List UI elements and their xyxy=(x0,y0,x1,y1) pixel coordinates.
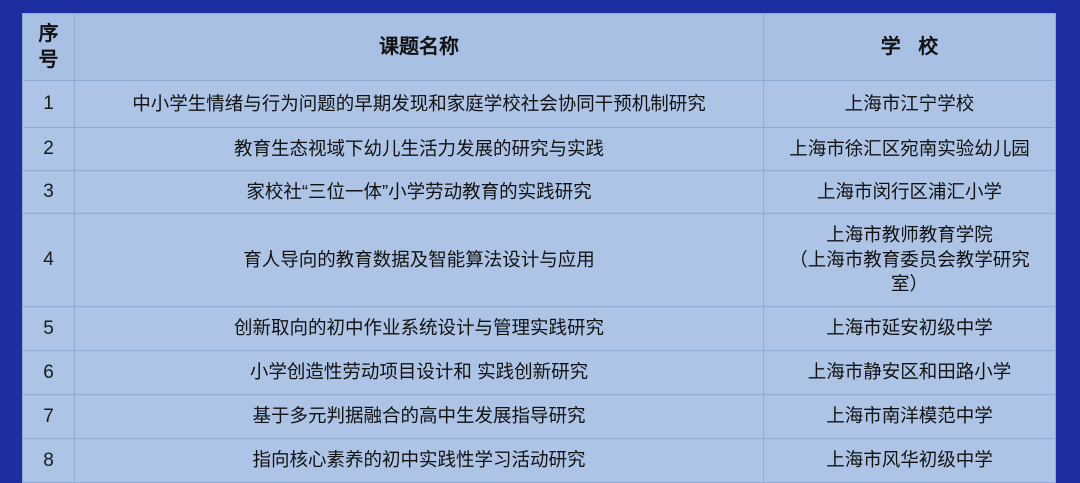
page-frame: 序 号 课题名称 学 校 1 中小学生情绪与行为问题的早期发现和家庭学校社会协同… xyxy=(0,0,1080,461)
column-header-sequence-line1: 序 xyxy=(29,21,68,47)
cell-sequence: 4 xyxy=(23,214,75,307)
cell-school-line: 上海市教师教育学院 xyxy=(770,223,1049,247)
column-header-school: 学 校 xyxy=(764,14,1056,81)
cell-sequence: 6 xyxy=(23,351,75,395)
column-header-sequence-line2: 号 xyxy=(29,47,68,73)
cell-topic-name: 创新取向的初中作业系统设计与管理实践研究 xyxy=(75,307,764,351)
table-row: 1 中小学生情绪与行为问题的早期发现和家庭学校社会协同干预机制研究 上海市江宁学… xyxy=(23,81,1056,128)
cell-school: 上海市教师教育学院 （上海市教育委员会教学研究 室） xyxy=(764,214,1056,307)
cell-school-line: 室） xyxy=(770,272,1049,296)
cell-school-lines: 上海市教师教育学院 （上海市教育委员会教学研究 室） xyxy=(770,223,1049,296)
cell-topic-name: 小学创造性劳动项目设计和 实践创新研究 xyxy=(75,351,764,395)
table-row: 7 基于多元判据融合的高中生发展指导研究 上海市南洋模范中学 xyxy=(23,395,1056,439)
cell-school: 上海市静安区和田路小学 xyxy=(764,351,1056,395)
table-header-row: 序 号 课题名称 学 校 xyxy=(23,14,1056,81)
cell-sequence: 2 xyxy=(23,128,75,171)
table-row: 6 小学创造性劳动项目设计和 实践创新研究 上海市静安区和田路小学 xyxy=(23,351,1056,395)
table-row: 5 创新取向的初中作业系统设计与管理实践研究 上海市延安初级中学 xyxy=(23,307,1056,351)
cell-school: 上海市闵行区浦汇小学 xyxy=(764,171,1056,214)
cell-school-line: （上海市教育委员会教学研究 xyxy=(770,248,1049,272)
cell-sequence: 7 xyxy=(23,395,75,439)
cell-school: 上海市南洋模范中学 xyxy=(764,395,1056,439)
column-header-topic-name: 课题名称 xyxy=(75,14,764,81)
table-row: 3 家校社“三位一体”小学劳动教育的实践研究 上海市闵行区浦汇小学 xyxy=(23,171,1056,214)
cell-sequence: 5 xyxy=(23,307,75,351)
cell-school: 上海市江宁学校 xyxy=(764,81,1056,128)
table-row: 2 教育生态视域下幼儿生活力发展的研究与实践 上海市徐汇区宛南实验幼儿园 xyxy=(23,128,1056,171)
cell-topic-name: 家校社“三位一体”小学劳动教育的实践研究 xyxy=(75,171,764,214)
table-row: 4 育人导向的教育数据及智能算法设计与应用 上海市教师教育学院 （上海市教育委员… xyxy=(23,214,1056,307)
research-topics-table: 序 号 课题名称 学 校 1 中小学生情绪与行为问题的早期发现和家庭学校社会协同… xyxy=(22,13,1056,483)
cell-topic-name: 教育生态视域下幼儿生活力发展的研究与实践 xyxy=(75,128,764,171)
cell-topic-name: 育人导向的教育数据及智能算法设计与应用 xyxy=(75,214,764,307)
cell-topic-name: 中小学生情绪与行为问题的早期发现和家庭学校社会协同干预机制研究 xyxy=(75,81,764,128)
cell-school: 上海市徐汇区宛南实验幼儿园 xyxy=(764,128,1056,171)
cell-sequence: 1 xyxy=(23,81,75,128)
table-body: 1 中小学生情绪与行为问题的早期发现和家庭学校社会协同干预机制研究 上海市江宁学… xyxy=(23,81,1056,483)
cell-sequence: 3 xyxy=(23,171,75,214)
table-header: 序 号 课题名称 学 校 xyxy=(23,14,1056,81)
cell-topic-name: 基于多元判据融合的高中生发展指导研究 xyxy=(75,395,764,439)
cell-school: 上海市延安初级中学 xyxy=(764,307,1056,351)
column-header-sequence: 序 号 xyxy=(23,14,75,81)
